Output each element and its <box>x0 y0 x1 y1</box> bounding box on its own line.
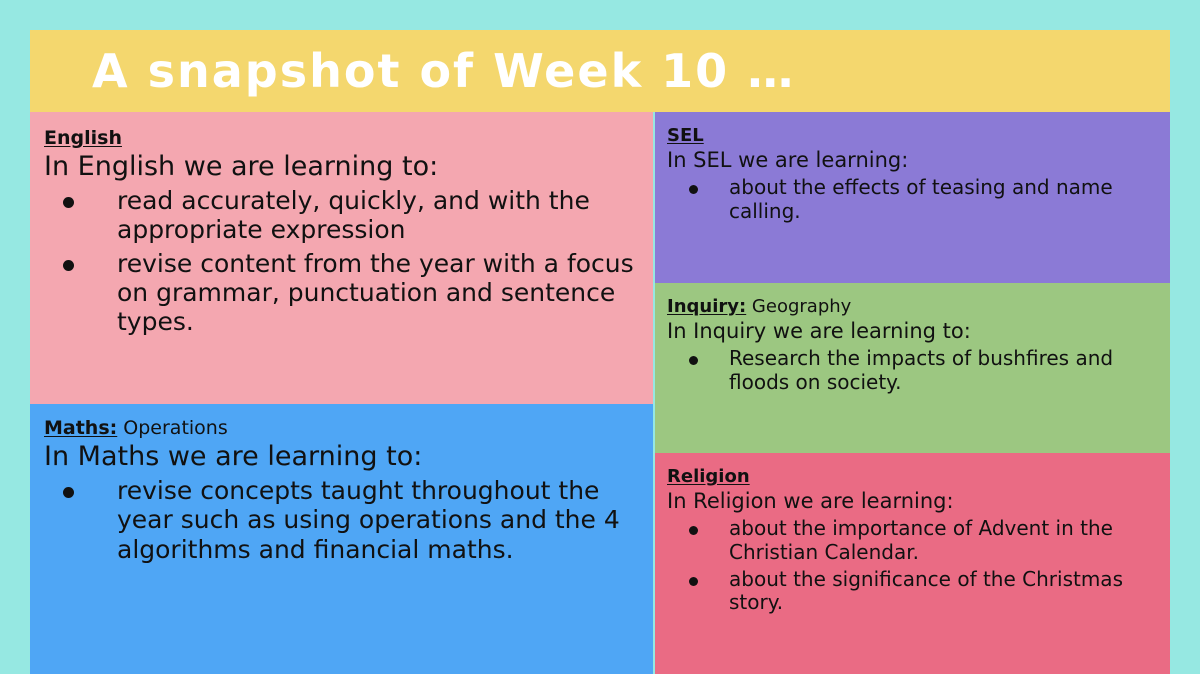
list-item-text: revise concepts taught throughout the ye… <box>117 476 620 564</box>
panel-inquiry-bullet-list: Research the impacts of bushfires and fl… <box>667 347 1158 394</box>
list-item-text: Research the impacts of bushfires and fl… <box>729 346 1113 393</box>
list-item-text: about the importance of Advent in the Ch… <box>729 516 1113 563</box>
panel-religion-intro: In Religion we are learning: <box>667 490 1158 514</box>
panel-religion-bullet-list: about the importance of Advent in the Ch… <box>667 517 1158 615</box>
panel-sel: SEL In SEL we are learning: about the ef… <box>655 112 1170 283</box>
list-item-text: read accurately, quickly, and with the a… <box>117 186 590 244</box>
panel-english-intro: In English we are learning to: <box>44 152 639 182</box>
bullet-dot-icon <box>689 356 698 365</box>
panel-inquiry-intro: In Inquiry we are learning to: <box>667 320 1158 344</box>
bullet-dot-icon <box>63 197 74 208</box>
list-item: about the significance of the Christmas … <box>667 568 1158 615</box>
bullet-dot-icon <box>689 185 698 194</box>
panel-religion-heading-label: Religion <box>667 466 750 487</box>
list-item-text: about the significance of the Christmas … <box>729 567 1123 614</box>
panel-maths: Maths: Operations In Maths we are learni… <box>30 404 653 674</box>
panel-religion-heading: Religion <box>667 467 1158 488</box>
page-title: A snapshot of Week 10 … <box>30 48 795 94</box>
bullet-dot-icon <box>63 260 74 271</box>
list-item: about the effects of teasing and name ca… <box>667 176 1158 223</box>
panel-maths-heading: Maths: Operations <box>44 418 639 440</box>
panel-english-heading-label: English <box>44 127 122 149</box>
panel-religion: Religion In Religion we are learning: ab… <box>655 453 1170 674</box>
panel-inquiry-heading-suffix: Geography <box>746 296 851 317</box>
panel-inquiry-heading: Inquiry: Geography <box>667 297 1158 318</box>
bullet-dot-icon <box>689 577 698 586</box>
panel-maths-heading-label: Maths: <box>44 417 117 439</box>
panel-maths-heading-suffix: Operations <box>117 417 228 439</box>
bullet-dot-icon <box>63 487 74 498</box>
panel-inquiry-heading-label: Inquiry: <box>667 296 746 317</box>
title-banner: A snapshot of Week 10 … <box>30 30 1170 112</box>
panel-maths-bullet-list: revise concepts taught throughout the ye… <box>44 476 639 564</box>
panel-sel-heading: SEL <box>667 126 1158 147</box>
panel-english-bullet-list: read accurately, quickly, and with the a… <box>44 186 639 336</box>
list-item-text: revise content from the year with a focu… <box>117 249 634 337</box>
list-item: about the importance of Advent in the Ch… <box>667 517 1158 564</box>
list-item-text: about the effects of teasing and name ca… <box>729 175 1113 222</box>
list-item: read accurately, quickly, and with the a… <box>44 186 639 245</box>
list-item: Research the impacts of bushfires and fl… <box>667 347 1158 394</box>
list-item: revise content from the year with a focu… <box>44 249 639 337</box>
bullet-dot-icon <box>689 526 698 535</box>
panel-inquiry: Inquiry: Geography In Inquiry we are lea… <box>655 283 1170 453</box>
panel-sel-intro: In SEL we are learning: <box>667 149 1158 173</box>
panel-maths-intro: In Maths we are learning to: <box>44 442 639 472</box>
panel-english-heading: English <box>44 128 639 150</box>
panel-sel-bullet-list: about the effects of teasing and name ca… <box>667 176 1158 223</box>
list-item: revise concepts taught throughout the ye… <box>44 476 639 564</box>
panel-sel-heading-label: SEL <box>667 125 704 146</box>
slide-canvas: A snapshot of Week 10 … English In Engli… <box>0 0 1200 674</box>
panel-english: English In English we are learning to: r… <box>30 112 653 404</box>
